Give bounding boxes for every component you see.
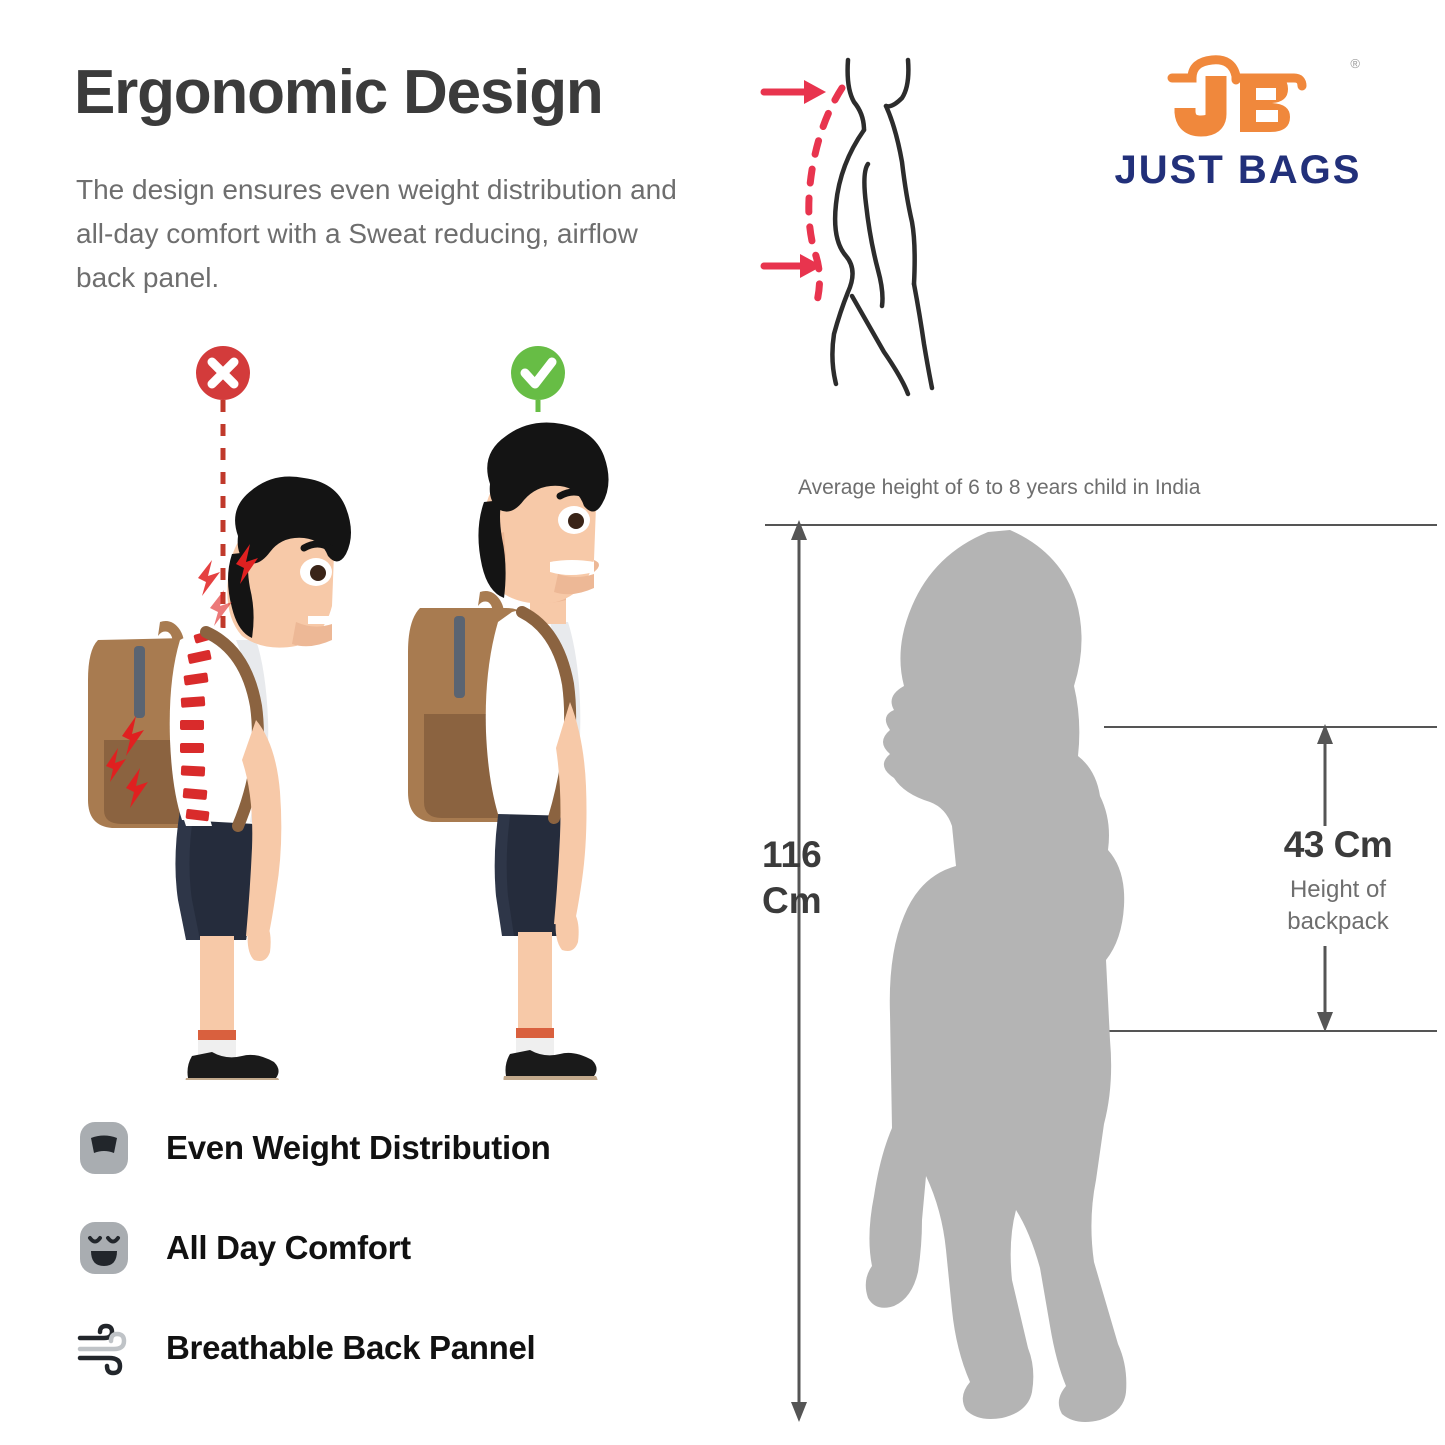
child-height-label: 116 Cm [762,832,858,925]
page-title: Ergonomic Design [74,62,603,124]
feature-label: All Day Comfort [166,1229,411,1267]
feature-label: Breathable Back Pannel [166,1329,535,1367]
feature-item-all-day-comfort: All Day Comfort [76,1198,716,1298]
shoulder-strap-pad-icon [76,1120,132,1176]
wrong-sock-band [198,1030,236,1040]
posture-profile-illustration [756,44,1006,419]
relaxed-face-icon [76,1220,132,1276]
feature-list: Even Weight Distribution All Day Comfort [76,1098,716,1398]
backpack-height-dimension-arrow-top [1308,722,1342,831]
measurement-caption: Average height of 6 to 8 years child in … [798,476,1200,500]
child-height-unit: Cm [762,878,858,924]
correct-posture-figure [408,346,609,1080]
posture-profile-svg [756,44,1006,414]
posture-comparison-illustration [60,340,740,1085]
child-height-dimension-arrow [782,518,816,1429]
backpack-desc-line-2: backpack [1248,906,1428,938]
registered-mark: ® [1350,56,1360,71]
feature-item-even-weight-distribution: Even Weight Distribution [76,1098,716,1198]
backpack-desc-line-1: Height of [1248,874,1428,906]
brand-logo: ® JUST BAGS [1088,52,1388,193]
child-height-value: 116 [762,832,858,878]
backpack-height-label: 43 Cm Height of backpack [1248,824,1428,937]
wrong-shoe-sole [186,1078,280,1080]
brand-name: JUST BAGS [1088,148,1388,193]
x-circle-icon [196,346,250,400]
jb-monogram-svg [1088,52,1388,144]
infographic-root: Ergonomic Design The design ensures even… [0,0,1445,1445]
backpack-height-value: 43 Cm [1248,824,1428,866]
feature-label: Even Weight Distribution [166,1129,551,1167]
wrong-posture-figure [88,346,351,1080]
page-subtitle: The design ensures even weight distribut… [76,168,696,301]
child-silhouette-svg [860,520,1280,1440]
backpack-height-dimension-arrow-bottom [1308,946,1342,1039]
correct-shoe-sole [504,1076,598,1080]
feature-item-breathable-back-pannel: Breathable Back Pannel [76,1298,716,1398]
posture-arrow-upper [764,80,826,104]
check-circle-icon [511,346,565,400]
correct-sock-band [516,1028,554,1038]
posture-comparison-svg [60,340,740,1080]
wind-airflow-icon [76,1320,132,1376]
backpack-height-description: Height of backpack [1248,874,1428,937]
jb-monogram-icon: ® [1088,52,1388,144]
child-silhouette [860,520,1280,1445]
